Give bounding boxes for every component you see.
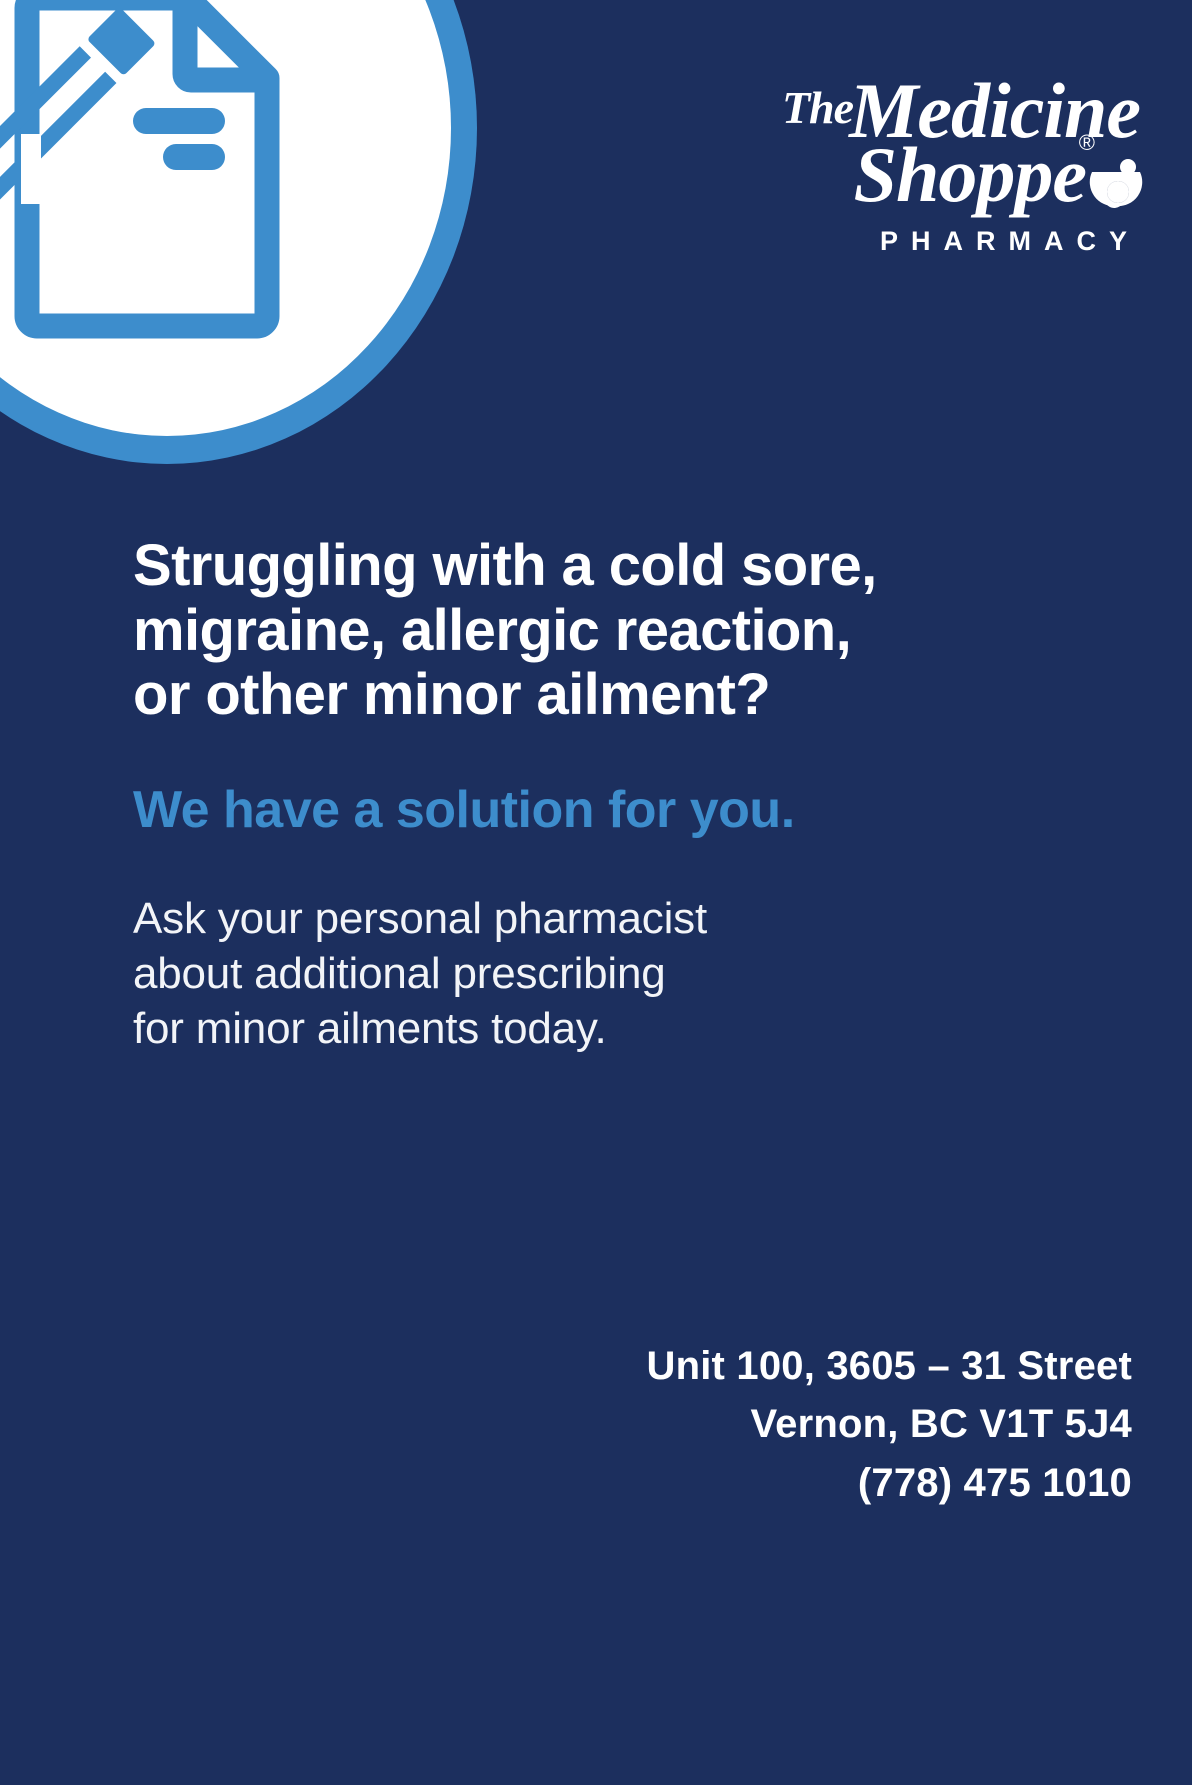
- body-copy-line-2: about additional prescribing: [133, 946, 963, 1001]
- document-pencil-icon: [0, 0, 337, 352]
- badge-circle: [0, 0, 477, 464]
- brand-logo: TheMedicine Shoppe ® PHARMACY: [750, 72, 1140, 255]
- registered-trademark-icon: ®: [1079, 132, 1094, 154]
- brand-the: The: [782, 82, 853, 133]
- address-phone[interactable]: (778) 475 1010: [647, 1454, 1132, 1513]
- address-city-postal: Vernon, BC V1T 5J4: [647, 1395, 1132, 1454]
- headline-line-1: Struggling with a cold sore,: [133, 534, 963, 599]
- poster: TheMedicine Shoppe ® PHARMACY Struggling…: [0, 0, 1192, 1785]
- address-block: Unit 100, 3605 – 31 Street Vernon, BC V1…: [647, 1337, 1132, 1513]
- brand-tagline: PHARMACY: [750, 228, 1140, 255]
- main-copy: Struggling with a cold sore, migraine, a…: [133, 534, 963, 1056]
- brand-logo-line-2: Shoppe ®: [750, 136, 1140, 214]
- body-copy-line-1: Ask your personal pharmacist: [133, 891, 963, 946]
- mortar-and-pestle-icon: [1088, 158, 1144, 210]
- body-copy-line-3: for minor ailments today.: [133, 1001, 963, 1056]
- headline-line-2: migraine, allergic reaction,: [133, 599, 963, 664]
- headline-line-3: or other minor ailment?: [133, 663, 963, 728]
- subheadline: We have a solution for you.: [133, 782, 963, 839]
- brand-shoppe: Shoppe: [854, 131, 1086, 218]
- address-street: Unit 100, 3605 – 31 Street: [647, 1337, 1132, 1396]
- body-copy: Ask your personal pharmacist about addit…: [133, 891, 963, 1056]
- headline: Struggling with a cold sore, migraine, a…: [133, 534, 963, 728]
